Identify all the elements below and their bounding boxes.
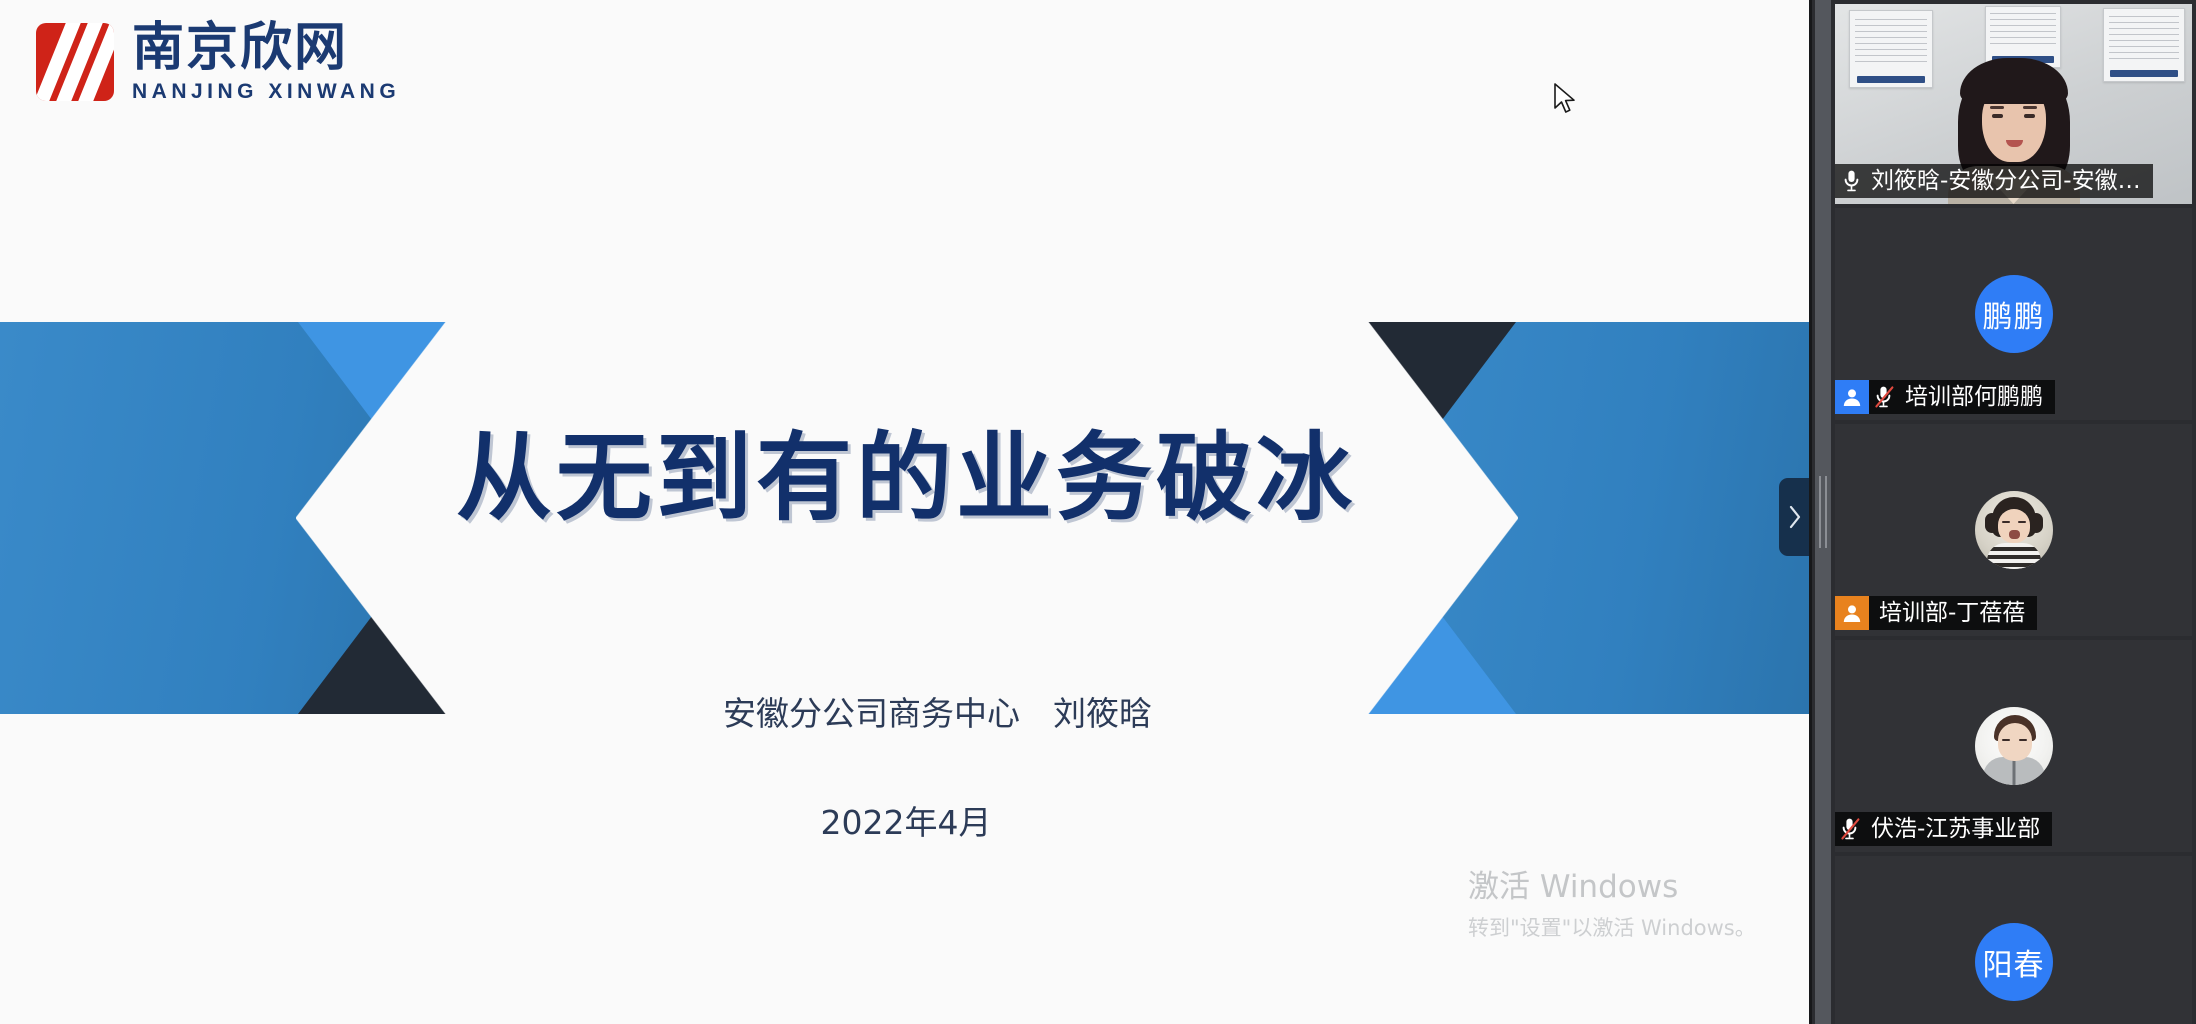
microphone-muted-icon: [1869, 380, 1901, 414]
participant-tile[interactable]: 伏浩-江苏事业部: [1835, 640, 2192, 852]
grip-line: [1819, 476, 1821, 548]
host-badge: [1835, 380, 1869, 414]
company-logo: 南京欣网 NANJING XINWANG: [36, 22, 400, 102]
shared-screen-stage[interactable]: 南京欣网 NANJING XINWANG 从无到有的业务破冰 安徽分公司商务中心…: [0, 0, 1812, 1024]
watermark-title: 激活 Windows: [1468, 868, 1756, 907]
arrow-cursor: [1552, 82, 1578, 116]
participant-name: 培训部何鹏鹏: [1901, 380, 2055, 414]
logo-chinese-name: 南京欣网: [132, 22, 400, 74]
avatar: [1975, 707, 2053, 785]
watermark-subtitle: 转到"设置"以激活 Windows。: [1468, 912, 1756, 942]
chevron-right-icon: [1787, 504, 1803, 530]
slide-title: 从无到有的业务破冰: [0, 400, 1812, 539]
participant-panel[interactable]: 刘筱晗-安徽分公司-安徽… 鹏鹏: [1831, 0, 2196, 1024]
participant-tile[interactable]: 鹏鹏: [1835, 208, 2192, 420]
participant-name-bar: 刘筱晗-安徽分公司-安徽…: [1835, 164, 2153, 198]
participant-name-bar: 培训部何鹏鹏: [1835, 380, 2055, 414]
microphone-muted-icon: [1835, 812, 1867, 846]
windows-activation-watermark: 激活 Windows 转到"设置"以激活 Windows。: [1468, 868, 1756, 942]
expand-panel-button[interactable]: [1779, 478, 1811, 556]
participant-name: 伏浩-江苏事业部: [1867, 812, 2052, 846]
avatar-initials: 鹏鹏: [1983, 292, 2045, 336]
slide-subtitle-line-2: 2022年4月: [0, 796, 1812, 850]
avatar-initials: 阳春: [1983, 940, 2045, 984]
slide-subtitle-line-1: 安徽分公司商务中心 刘筱晗: [723, 694, 1152, 733]
participant-tile[interactable]: 培训部-丁蓓蓓: [1835, 424, 2192, 636]
logo-mark-icon: [36, 23, 114, 101]
avatar: 鹏鹏: [1975, 275, 2053, 353]
participant-name: 刘筱晗-安徽分公司-安徽…: [1867, 164, 2153, 198]
participant-tile[interactable]: 刘筱晗-安徽分公司-安徽…: [1835, 4, 2192, 204]
wall-document: [2103, 8, 2185, 82]
co-host-badge: [1835, 596, 1869, 630]
participant-name-bar: 培训部-丁蓓蓓: [1835, 596, 2037, 630]
avatar: 阳春: [1975, 923, 2053, 1001]
person-icon: [1841, 602, 1863, 624]
avatar: [1975, 491, 2053, 569]
grip-line: [1825, 476, 1827, 548]
microphone-icon: [1835, 164, 1867, 198]
panel-resize-handle[interactable]: [1815, 0, 1831, 1024]
wall-document: [1849, 10, 1933, 88]
logo-english-name: NANJING XINWANG: [132, 81, 400, 102]
participant-name-bar: 伏浩-江苏事业部: [1835, 812, 2052, 846]
app-root: 南京欣网 NANJING XINWANG 从无到有的业务破冰 安徽分公司商务中心…: [0, 0, 2196, 1024]
participant-tile[interactable]: 阳春: [1835, 856, 2192, 1024]
participant-name: 培训部-丁蓓蓓: [1869, 596, 2037, 630]
logo-wordmark: 南京欣网 NANJING XINWANG: [132, 22, 400, 102]
person-icon: [1841, 386, 1863, 408]
